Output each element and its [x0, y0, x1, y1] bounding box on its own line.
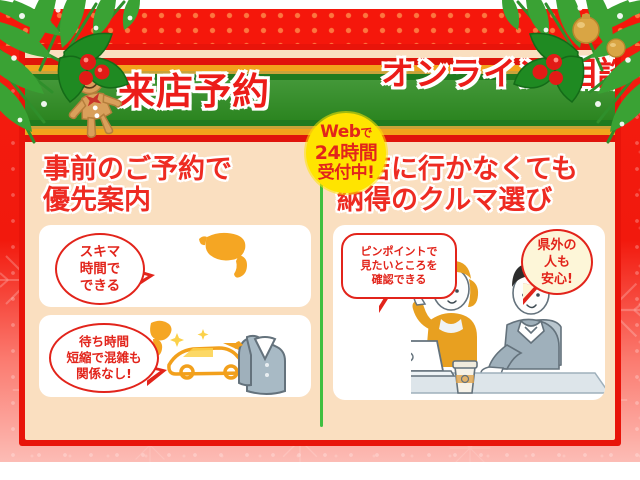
pine-branch-icon — [470, 0, 640, 150]
pine-branch-icon — [0, 0, 170, 150]
left-feature-box-1: スキマ 時間で できる — [39, 225, 311, 307]
badge-web-text: Web — [320, 122, 360, 142]
badge-line-1: Webで — [320, 123, 372, 143]
web-24h-badge: Webで 24時間 受付中! — [306, 113, 386, 193]
bottom-white-strip — [0, 462, 640, 480]
badge-line-2: 24時間 — [315, 143, 377, 164]
left-feature-box-2: 待ち時間 短縮で混雑も 関係なし! — [39, 315, 311, 397]
car-and-suit-illustration — [143, 317, 311, 397]
panel-divider — [320, 162, 323, 427]
panel-online-consultation: お店に行かなくても 納得のクルマ選び — [333, 154, 605, 400]
right-bubble-1: ピンポイントで 見たいところを 確認できる — [341, 233, 457, 299]
badge-line-3: 受付中! — [318, 164, 375, 183]
right-bubble-2: 県外の 人も 安心! — [521, 229, 593, 295]
smartphone-hand-illustration — [189, 229, 275, 291]
badge-de-text: で — [360, 126, 372, 140]
promo-banner: 来店予約 オンライン 相談 Webで 24時間 受付中! 事前のご予約で 優先案… — [0, 0, 640, 480]
panel-visit-reservation: 事前のご予約で 優先案内 スキマ 時間で できる — [39, 154, 311, 397]
right-feature-box: ピンポイントで 見たいところを 確認できる 県外の 人も 安心! — [333, 225, 605, 400]
left-bubble-2: 待ち時間 短縮で混雑も 関係なし! — [49, 323, 159, 393]
left-panel-heading: 事前のご予約で 優先案内 — [43, 154, 311, 216]
left-bubble-1: スキマ 時間で できる — [55, 233, 145, 305]
